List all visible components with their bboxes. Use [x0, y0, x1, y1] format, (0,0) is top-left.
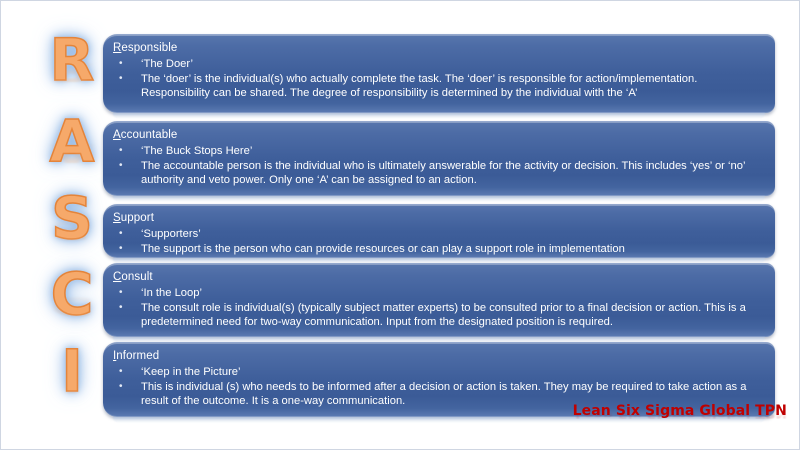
bullet-dot-icon: •: [113, 380, 141, 395]
bullet-text: ‘In the Loop’: [141, 286, 761, 301]
bullet-item: •The ‘doer’ is the individual(s) who act…: [113, 72, 761, 101]
rasci-box-title-rest: upport: [121, 212, 154, 224]
bullet-item: •‘In the Loop’: [113, 286, 761, 301]
bullet-dot-icon: •: [113, 57, 141, 72]
bullet-item: •The accountable person is the individua…: [113, 159, 761, 188]
rasci-slide: RRAASSCCII Responsible•‘The Doer’•The ‘d…: [0, 0, 800, 450]
bullet-text: ‘Supporters’: [141, 227, 761, 242]
rasci-acronym-column: RRAASSCCII: [35, 19, 109, 439]
acronym-letter-reflection: A: [35, 140, 109, 165]
rasci-box-title-rest: esponsible: [121, 42, 177, 54]
bullet-dot-icon: •: [113, 227, 141, 242]
bullet-item: •The consult role is individual(s) (typi…: [113, 301, 761, 330]
rasci-box-s: Support•‘Supporters’•The support is the …: [103, 204, 775, 258]
bullet-item: •‘Keep in the Picture’: [113, 365, 761, 380]
rasci-box-title-rest: nformed: [116, 350, 159, 362]
bullet-text: ‘The Doer’: [141, 57, 761, 72]
bullet-item: •The support is the person who can provi…: [113, 242, 761, 257]
bullet-item: •‘The Buck Stops Here’: [113, 144, 761, 159]
acronym-letter-reflection: R: [35, 59, 109, 84]
rasci-box-title: Responsible: [113, 41, 761, 56]
rasci-box-title-rest: onsult: [121, 271, 152, 283]
bullet-text: ‘The Buck Stops Here’: [141, 144, 761, 159]
rasci-box-title-rest: ccountable: [121, 129, 178, 141]
rasci-box-title: Accountable: [113, 128, 761, 143]
footer: Lean Six Sigma Global TPN Lean Six Sigma…: [573, 403, 787, 435]
bullet-item: •‘The Doer’: [113, 57, 761, 72]
rasci-definition-boxes: Responsible•‘The Doer’•The ‘doer’ is the…: [103, 1, 779, 450]
bullet-text: The support is the person who can provid…: [141, 242, 761, 257]
rasci-box-title-initial: A: [113, 129, 121, 141]
acronym-letter-reflection: S: [35, 217, 109, 242]
bullet-dot-icon: •: [113, 365, 141, 380]
bullet-text: ‘Keep in the Picture’: [141, 365, 761, 380]
bullet-dot-icon: •: [113, 159, 141, 174]
rasci-box-title: Support: [113, 211, 761, 226]
bullet-item: •‘Supporters’: [113, 227, 761, 242]
acronym-letter-reflection: I: [35, 370, 109, 395]
rasci-box-a: Accountable•‘The Buck Stops Here’•The ac…: [103, 121, 775, 196]
rasci-box-title: Consult: [113, 270, 761, 285]
bullet-dot-icon: •: [113, 242, 141, 257]
bullet-text: The ‘doer’ is the individual(s) who actu…: [141, 72, 761, 101]
bullet-dot-icon: •: [113, 144, 141, 159]
rasci-box-title: Informed: [113, 349, 761, 364]
bullet-text: The accountable person is the individual…: [141, 159, 761, 188]
bullet-dot-icon: •: [113, 286, 141, 301]
acronym-letter-i: II: [35, 344, 109, 450]
footer-brand-reflection: Lean Six Sigma Global TPN: [573, 410, 787, 419]
bullet-text: The consult role is individual(s) (typic…: [141, 301, 761, 330]
bullet-dot-icon: •: [113, 72, 141, 87]
rasci-box-title-initial: S: [113, 212, 121, 224]
rasci-box-c: Consult•‘In the Loop’•The consult role i…: [103, 263, 775, 337]
rasci-box-r: Responsible•‘The Doer’•The ‘doer’ is the…: [103, 34, 775, 113]
acronym-letter-reflection: C: [35, 293, 109, 318]
bullet-dot-icon: •: [113, 301, 141, 316]
